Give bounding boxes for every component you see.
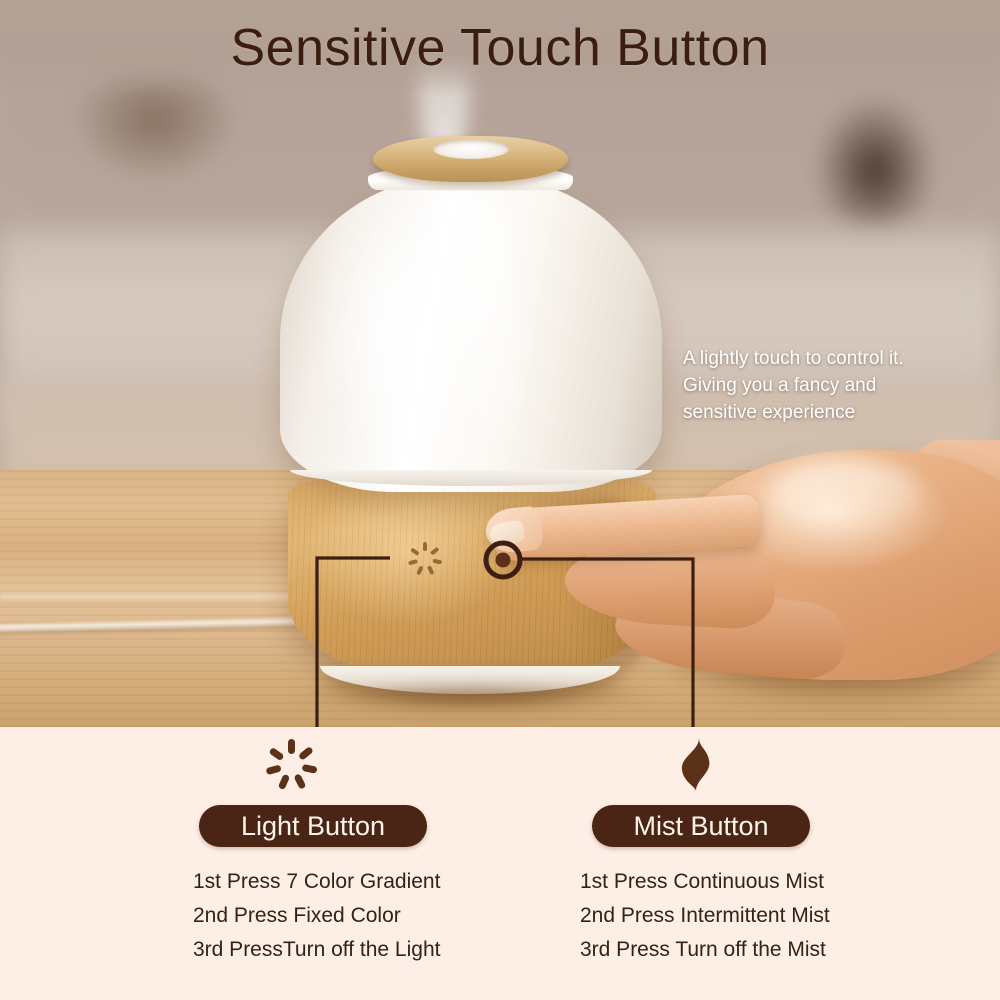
- mist-droplet-icon: [672, 735, 716, 793]
- overlay-caption-line-1: A lightly touch to control it.: [683, 345, 963, 372]
- sun-burst-icon: [265, 739, 317, 791]
- header-band: Sensitive Touch Button: [0, 0, 1000, 96]
- mist-instruction-1: 1st Press Continuous Mist: [580, 865, 830, 899]
- mist-button-label-pill: Mist Button: [592, 805, 810, 847]
- instruction-panel: Light Button 1st Press 7 Color Gradient …: [0, 727, 1000, 1000]
- product-infographic: Sensitive Touch Button A lightly touch t…: [0, 0, 1000, 1000]
- light-instruction-2: 2nd Press Fixed Color: [193, 899, 440, 933]
- mist-icon-box: [572, 727, 902, 789]
- body-highlight: [460, 198, 518, 448]
- mist-outlet: [433, 139, 509, 159]
- light-instruction-1: 1st Press 7 Color Gradient: [193, 865, 440, 899]
- mist-instruction-3: 3rd Press Turn off the Mist: [580, 933, 830, 967]
- page-title: Sensitive Touch Button: [230, 18, 769, 78]
- overlay-caption-line-2: Giving you a fancy and: [683, 372, 963, 399]
- light-button-label-pill: Light Button: [199, 805, 427, 847]
- light-instruction-3: 3rd PressTurn off the Light: [193, 933, 440, 967]
- mist-button-column: Mist Button 1st Press Continuous Mist 2n…: [572, 727, 902, 789]
- light-icon-box: [185, 727, 515, 789]
- mist-instruction-2: 2nd Press Intermittent Mist: [580, 899, 830, 933]
- light-button-column: Light Button 1st Press 7 Color Gradient …: [185, 727, 515, 789]
- mist-instructions: 1st Press Continuous Mist 2nd Press Inte…: [580, 865, 830, 967]
- overlay-caption: A lightly touch to control it. Giving yo…: [683, 345, 963, 426]
- light-instructions: 1st Press 7 Color Gradient 2nd Press Fix…: [193, 865, 440, 967]
- overlay-caption-line-3: sensitive experience: [683, 399, 963, 426]
- light-button-label: Light Button: [241, 811, 385, 842]
- hand: [470, 440, 1000, 727]
- knuckle-highlight: [770, 460, 920, 530]
- base-sun-icon: [408, 542, 442, 576]
- mist-button-label: Mist Button: [633, 811, 768, 842]
